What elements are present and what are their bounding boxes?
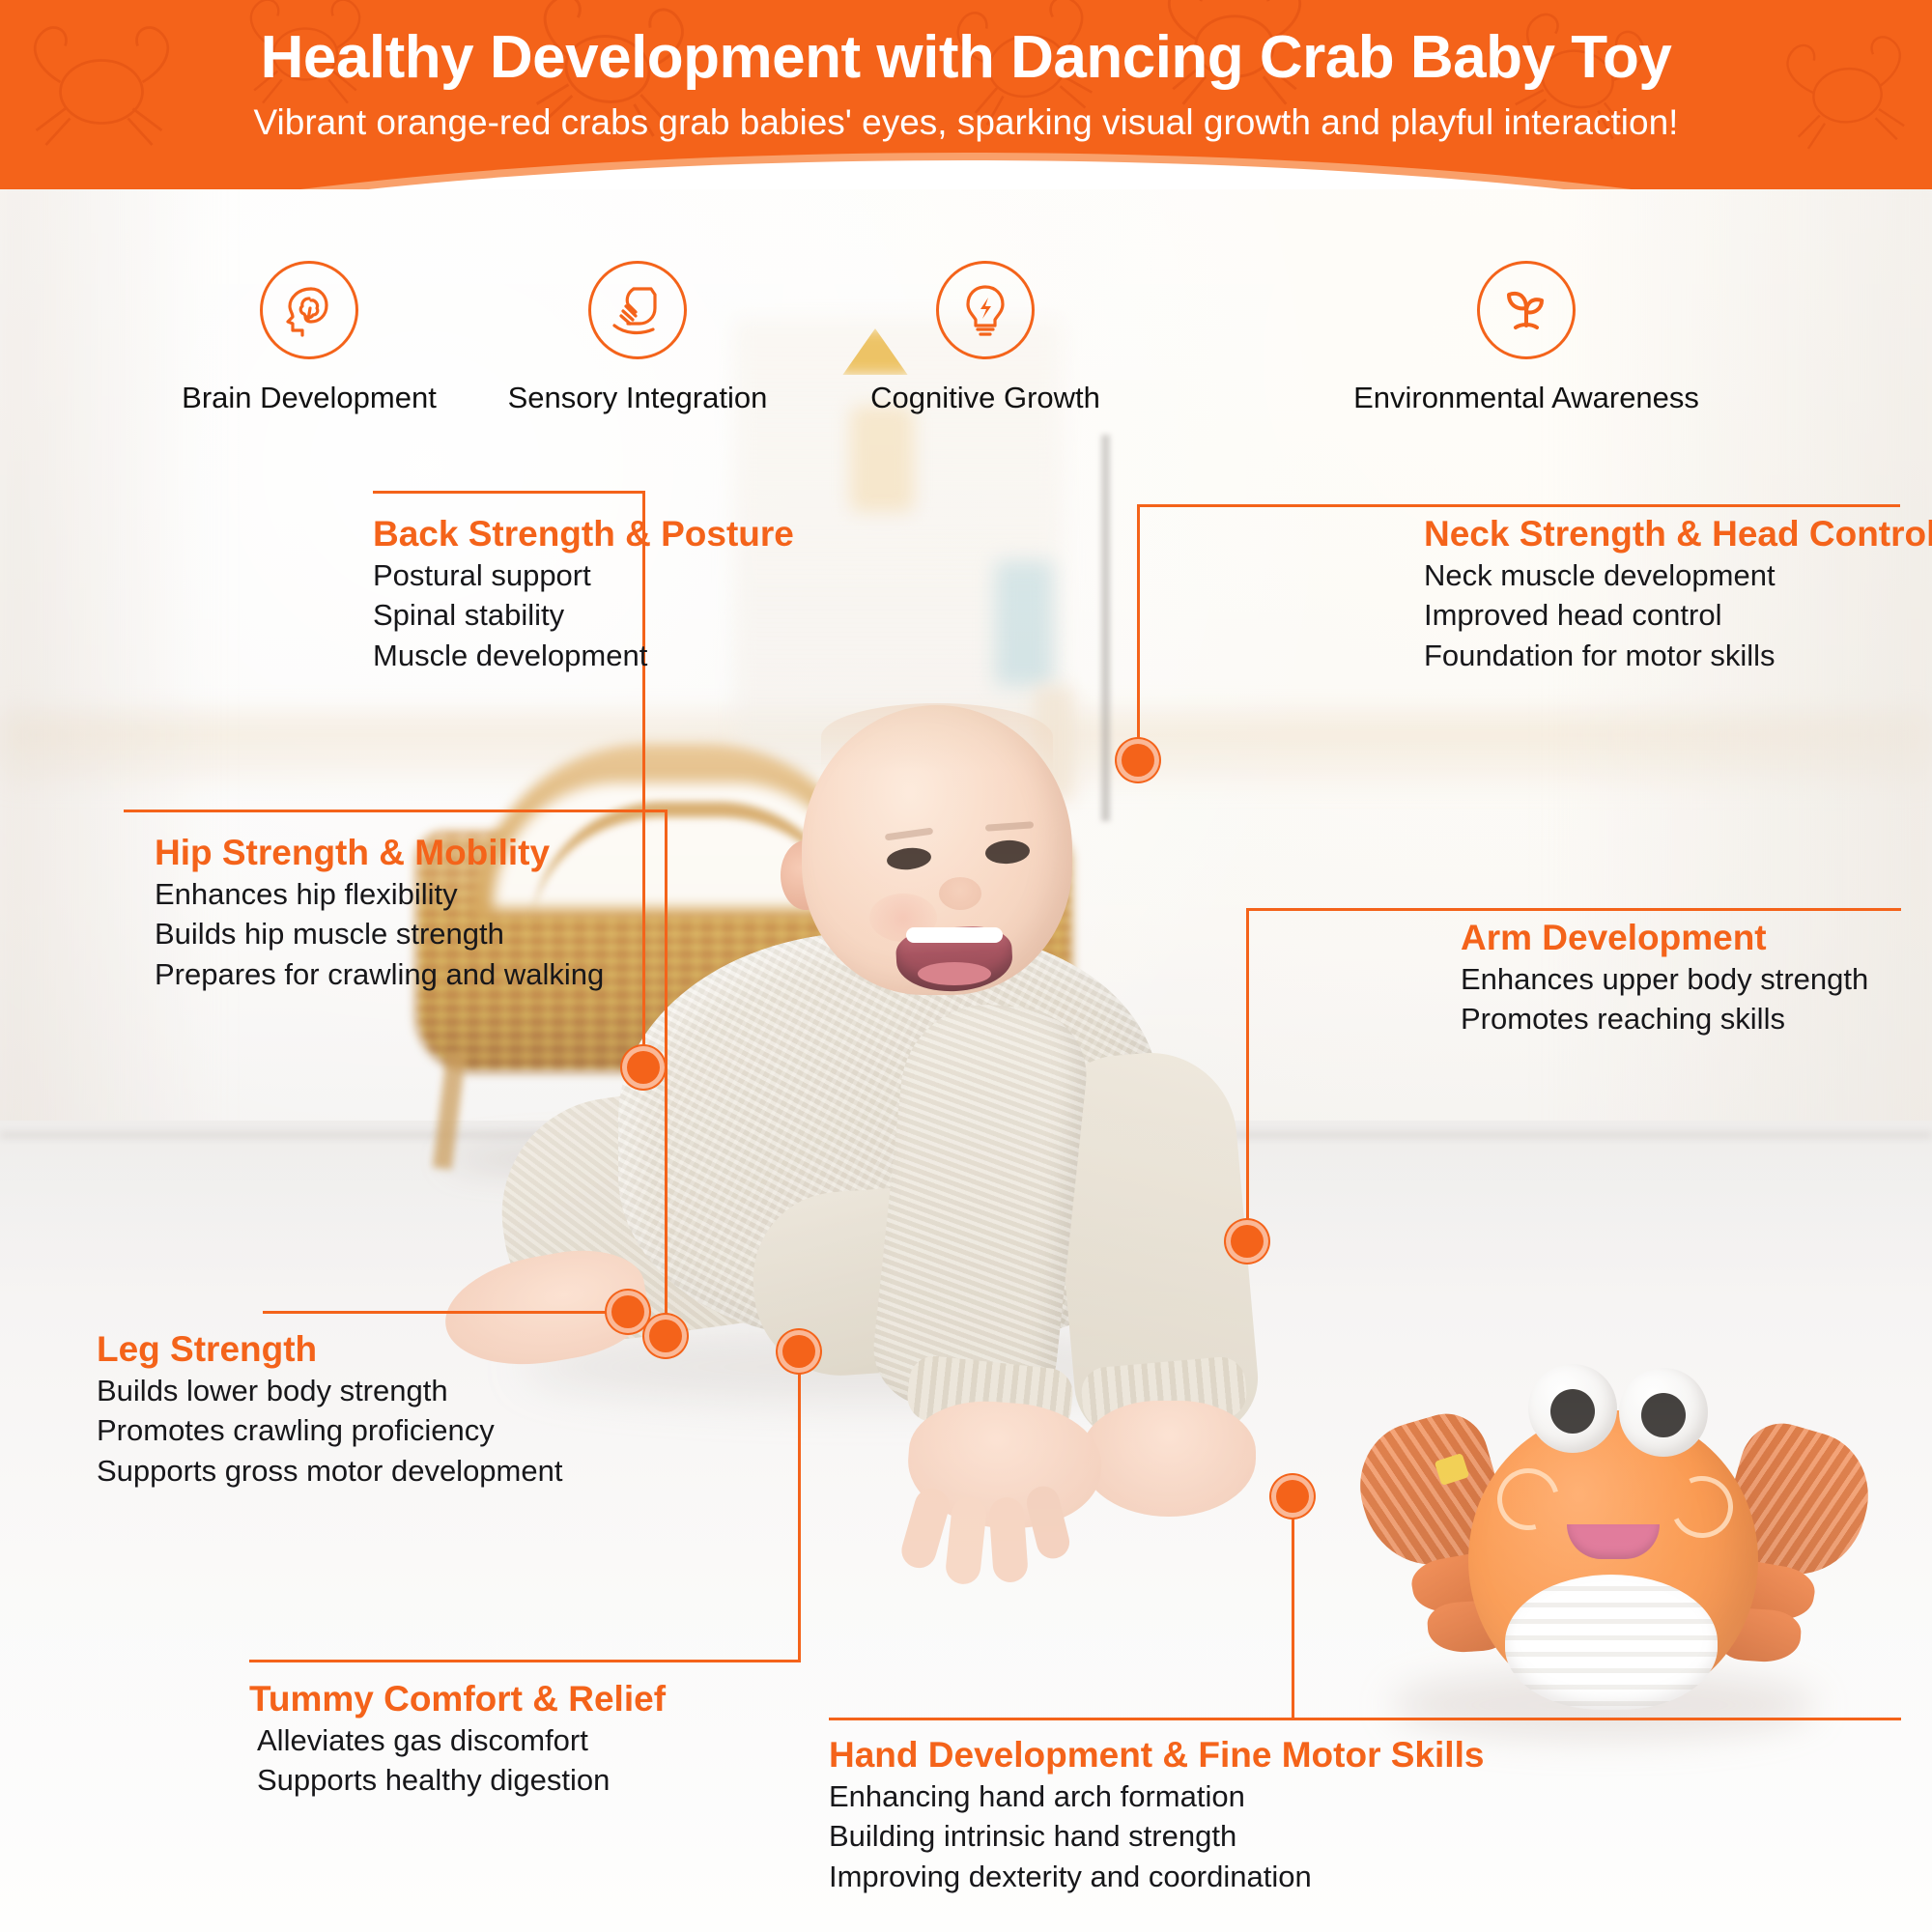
sprout-plant-icon [1495, 279, 1557, 341]
connector-tummy-comfort-horizontal [249, 1660, 801, 1662]
lightbulb-bolt-icon [954, 279, 1016, 341]
feature-icon-row: Brain Development Sensory Integration [0, 261, 1932, 444]
callout-title: Hip Strength & Mobility [155, 833, 604, 874]
callout-line: Building intrinsic hand strength [829, 1816, 1484, 1857]
connector-neck-strength-vertical [1137, 504, 1140, 760]
feature-environmental-awareness[interactable]: Environmental Awareness [1140, 261, 1913, 415]
connector-tummy-comfort-vertical [798, 1350, 801, 1662]
callout-title: Back Strength & Posture [373, 514, 794, 555]
callout-neck-strength: Neck Strength & Head Control Neck muscle… [1424, 514, 1932, 675]
callout-line: Prepares for crawling and walking [155, 954, 604, 995]
callout-title: Tummy Comfort & Relief [249, 1679, 666, 1720]
page-subtitle: Vibrant orange-red crabs grab babies' ey… [0, 102, 1932, 143]
callout-line: Promotes crawling proficiency [97, 1410, 562, 1451]
brain-head-icon-circle [260, 261, 358, 359]
connector-hand-development-horizontal [829, 1718, 1901, 1720]
hotspot-leg-strength[interactable] [611, 1295, 644, 1328]
sprout-plant-icon-circle [1477, 261, 1576, 359]
callout-line: Supports healthy digestion [249, 1760, 666, 1801]
callout-title: Hand Development & Fine Motor Skills [829, 1735, 1484, 1776]
callout-line: Enhances hip flexibility [155, 874, 604, 915]
connector-hip-strength-horizontal [124, 810, 667, 812]
hotspot-hip-strength[interactable] [649, 1320, 682, 1352]
callout-tummy-comfort: Tummy Comfort & Relief Alleviates gas di… [249, 1679, 666, 1801]
callout-leg-strength: Leg Strength Builds lower body strength … [97, 1329, 562, 1491]
hotspot-neck-strength[interactable] [1122, 744, 1154, 777]
callout-line: Enhancing hand arch formation [829, 1776, 1484, 1817]
callout-line: Neck muscle development [1424, 555, 1932, 596]
callout-back-strength: Back Strength & Posture Postural support… [373, 514, 794, 675]
connector-neck-strength-horizontal [1137, 504, 1900, 507]
callout-hand-development: Hand Development & Fine Motor Skills Enh… [829, 1735, 1484, 1896]
hotspot-back-strength[interactable] [627, 1051, 660, 1084]
callout-title: Neck Strength & Head Control [1424, 514, 1932, 555]
infographic-canvas: Healthy Development with Dancing Crab Ba… [0, 0, 1932, 1932]
connector-hand-development-vertical [1292, 1495, 1294, 1719]
hand-touch-icon-circle [588, 261, 687, 359]
feature-label: Environmental Awareness [1140, 381, 1913, 415]
connector-leg-strength-horizontal [263, 1311, 632, 1314]
connector-arm-development-vertical [1246, 908, 1249, 1241]
connector-hip-strength-vertical [665, 810, 668, 1336]
callout-arm-development: Arm Development Enhances upper body stre… [1461, 918, 1868, 1039]
callout-title: Arm Development [1461, 918, 1868, 959]
callout-line: Postural support [373, 555, 794, 596]
callout-hip-strength: Hip Strength & Mobility Enhances hip fle… [155, 833, 604, 994]
callout-line: Improved head control [1424, 595, 1932, 636]
callout-line: Promotes reaching skills [1461, 999, 1868, 1039]
callout-line: Enhances upper body strength [1461, 959, 1868, 1000]
callout-line: Builds hip muscle strength [155, 914, 604, 954]
lightbulb-bolt-icon-circle [936, 261, 1035, 359]
callout-line: Muscle development [373, 636, 794, 676]
callout-line: Spinal stability [373, 595, 794, 636]
feature-cognitive-growth[interactable]: Cognitive Growth [773, 261, 1198, 415]
callout-line: Supports gross motor development [97, 1451, 562, 1492]
callout-line: Foundation for motor skills [1424, 636, 1932, 676]
callout-title: Leg Strength [97, 1329, 562, 1371]
header-banner: Healthy Development with Dancing Crab Ba… [0, 0, 1932, 189]
hand-touch-icon [607, 279, 668, 341]
callout-line: Improving dexterity and coordination [829, 1857, 1484, 1897]
connector-arm-development-horizontal [1246, 908, 1901, 911]
brain-head-icon [278, 279, 340, 341]
hotspot-hand-development[interactable] [1276, 1480, 1309, 1513]
page-title: Healthy Development with Dancing Crab Ba… [0, 23, 1932, 92]
feature-label: Cognitive Growth [773, 381, 1198, 415]
hotspot-tummy-comfort[interactable] [782, 1335, 815, 1368]
hotspot-arm-development[interactable] [1231, 1225, 1264, 1258]
callout-line: Builds lower body strength [97, 1371, 562, 1411]
callout-line: Alleviates gas discomfort [249, 1720, 666, 1761]
connector-back-strength-horizontal [373, 491, 645, 494]
